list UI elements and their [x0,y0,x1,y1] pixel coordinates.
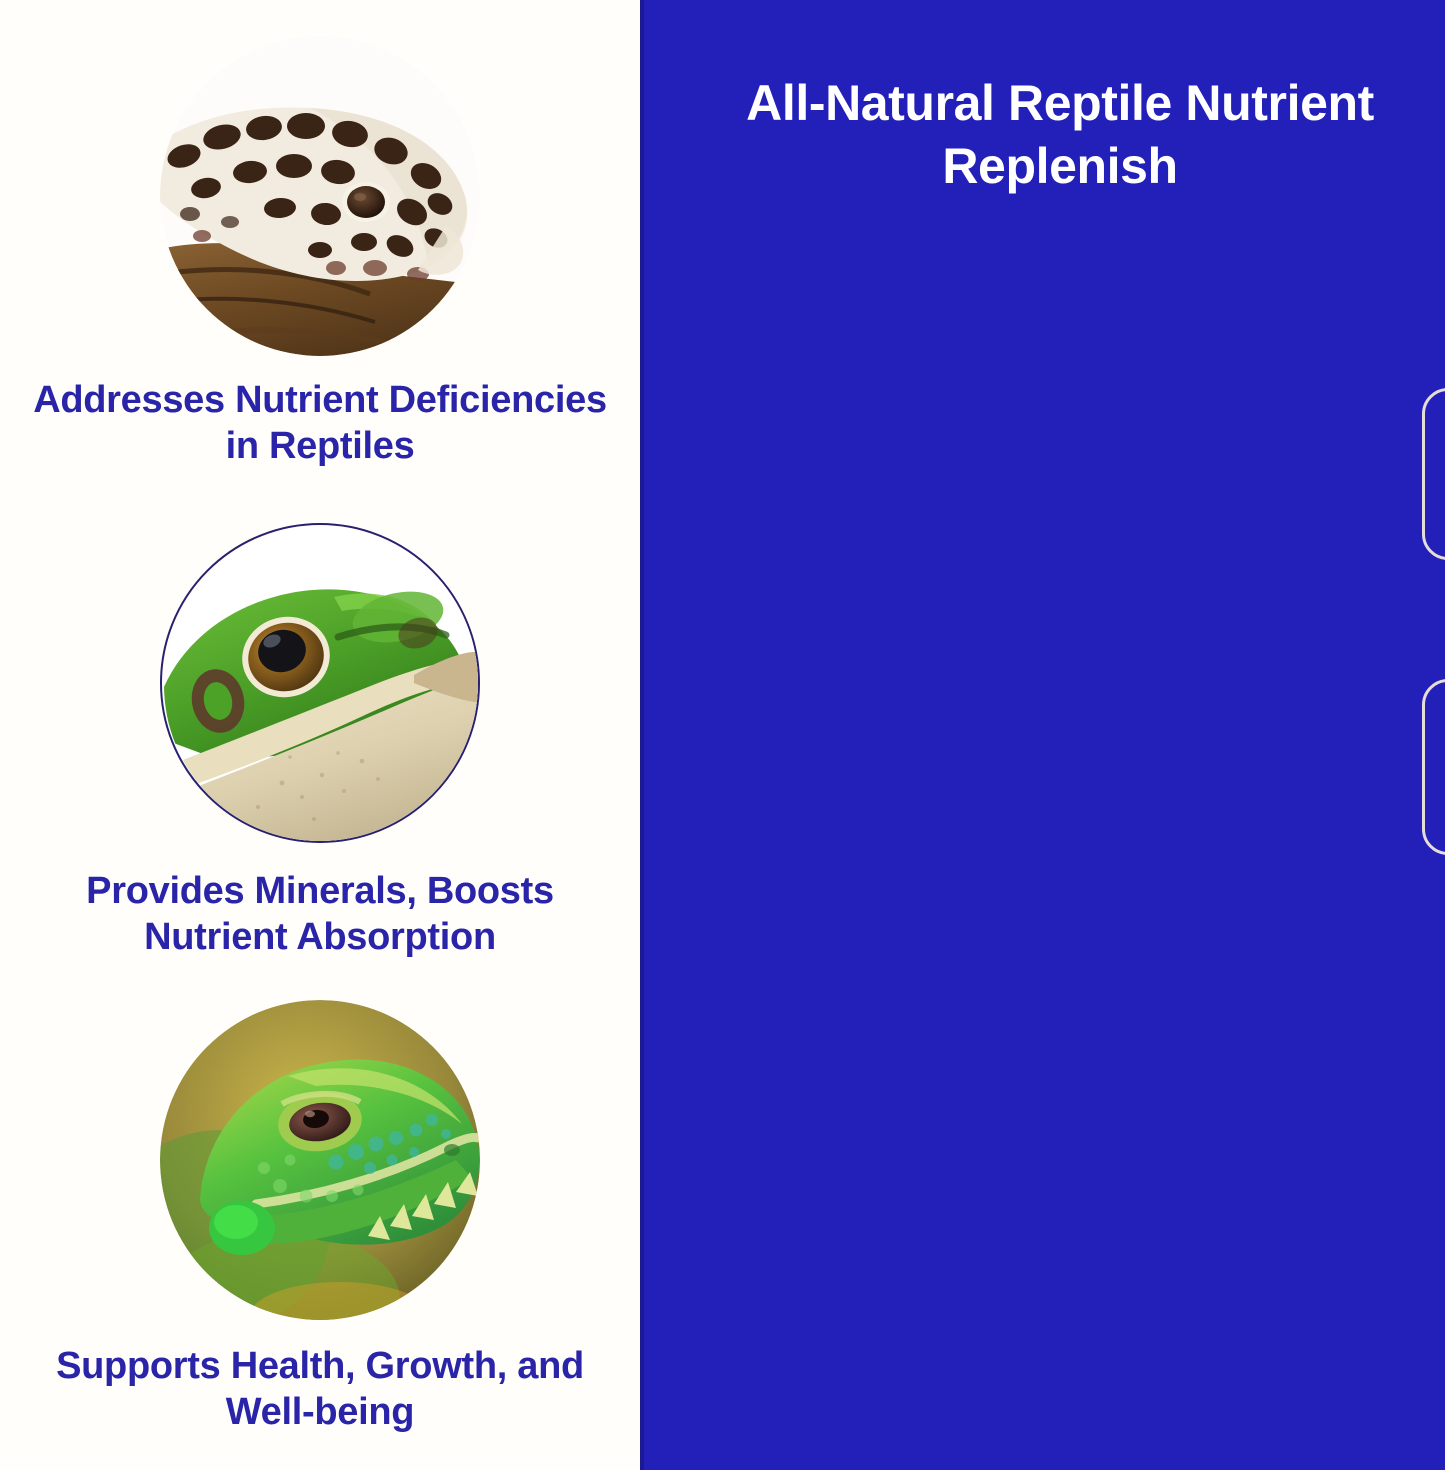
brand-line-healthy: Healthy [1300,990,1445,1070]
leopard-gecko-photo [160,36,480,356]
brand-line-4ever: 4EVER [1300,1154,1445,1236]
feature-badge-mineral-vitamin: Comprehensive Mineral and Vitamin Suppor… [1422,388,1445,560]
green-tree-frog-photo [160,523,480,843]
feature-caption: Addresses Nutrient Deficiencies in Repti… [0,378,640,469]
feature-item: Supports Health, Growth, and Well-being [0,1000,640,1435]
green-iguana-photo [160,1000,480,1320]
feature-item: Addresses Nutrient Deficiencies in Repti… [0,36,640,469]
features-column: Addresses Nutrient Deficiencies in Repti… [0,0,640,1470]
brand-panel: All-Natural Reptile Nutrient Replenish [640,0,1445,1470]
feature-item: Provides Minerals, Boosts Nutrient Absor… [0,523,640,960]
brand-line-animals: Animals [1300,1070,1445,1150]
panel-title: All-Natural Reptile Nutrient Replenish [710,72,1410,198]
feature-caption: Provides Minerals, Boosts Nutrient Absor… [0,869,640,960]
product-infographic: Addresses Nutrient Deficiencies in Repti… [0,0,1445,1470]
feature-badge-natural-ingredients: Made with all Natural Ingredients [1422,679,1445,855]
brand-lockup: Healthy Animals 4EVER [1300,990,1445,1236]
feature-caption: Supports Health, Growth, and Well-being [0,1344,640,1435]
